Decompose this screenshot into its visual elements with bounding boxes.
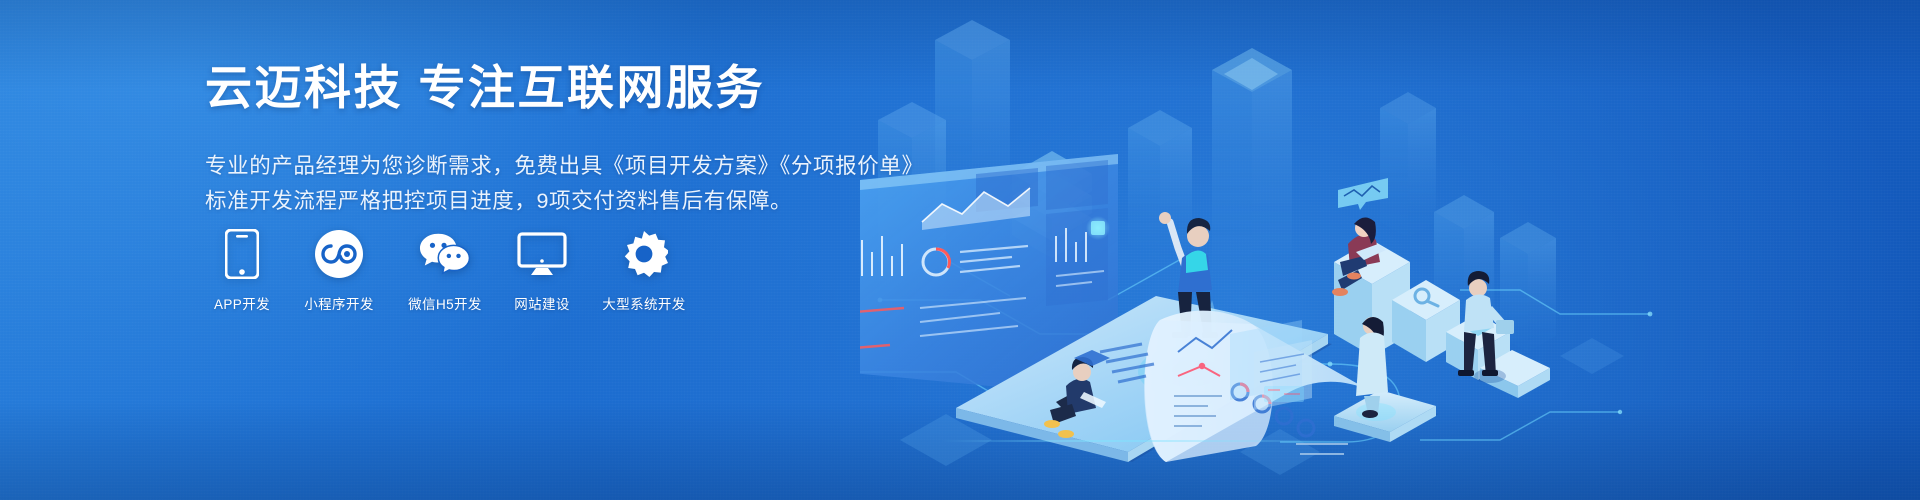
isometric-tech-illustration	[860, 0, 1920, 500]
service-label-mini-program: 小程序开发	[304, 293, 374, 313]
service-label-system: 大型系统开发	[602, 293, 685, 313]
gear-icon	[618, 228, 670, 280]
subtitle-line-1: 专业的产品经理为您诊断需求，免费出具《项目开发方案》《分项报价单》	[205, 149, 925, 184]
promo-banner: 云迈科技 专注互联网服务 专业的产品经理为您诊断需求，免费出具《项目开发方案》《…	[0, 0, 1920, 500]
banner-copy: 云迈科技 专注互联网服务 专业的产品经理为您诊断需求，免费出具《项目开发方案》《…	[205, 60, 925, 219]
service-item-app[interactable]: APP开发	[205, 228, 279, 313]
desktop-monitor-icon	[516, 228, 568, 280]
service-list: APP开发 小程序开发	[205, 228, 695, 313]
service-item-system[interactable]: 大型系统开发	[593, 228, 695, 313]
service-label-app: APP开发	[214, 293, 270, 313]
subtitle-line-2: 标准开发流程严格把控项目进度，9项交付资料售后有保障。	[205, 184, 925, 219]
service-item-mini-program[interactable]: 小程序开发	[293, 228, 385, 313]
page-title: 云迈科技 专注互联网服务	[205, 60, 925, 116]
service-item-website[interactable]: 网站建设	[505, 228, 579, 313]
wechat-bubbles-icon	[419, 228, 471, 280]
mobile-phone-icon	[216, 228, 268, 280]
service-label-wechat-h5: 微信H5开发	[408, 293, 482, 313]
mini-program-icon	[313, 228, 365, 280]
service-label-website: 网站建设	[514, 293, 570, 313]
service-item-wechat-h5[interactable]: 微信H5开发	[399, 228, 491, 313]
